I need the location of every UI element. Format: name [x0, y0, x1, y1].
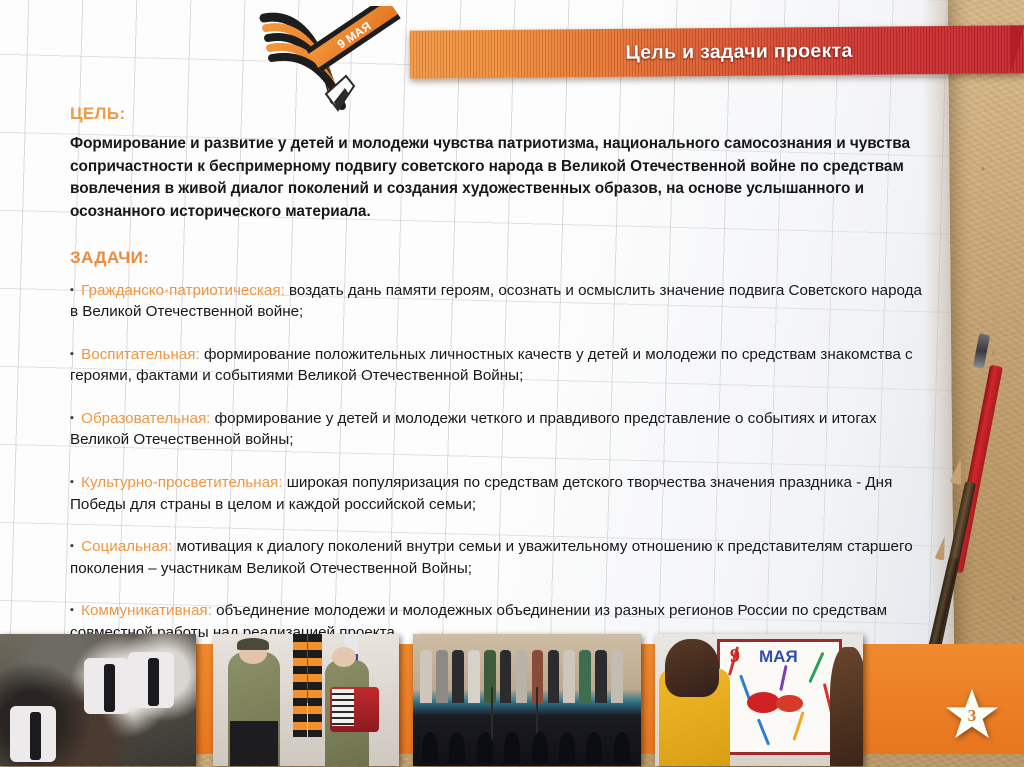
- slide-number: 3: [944, 706, 1000, 726]
- task-item: ▪ Социальная: мотивация к диалогу поколе…: [70, 536, 930, 579]
- st-george-ribbon-pencil-icon: 9 МАЯ: [250, 6, 430, 118]
- task-label: Социальная:: [81, 538, 172, 555]
- paintbrush-ferrule-icon: [973, 333, 990, 368]
- bullet-icon: ▪: [70, 412, 74, 424]
- strip-photo: 9 МАЯ: [655, 634, 863, 766]
- strip-photo: [213, 634, 399, 766]
- poster-flower: [747, 692, 780, 713]
- slide-number-star-icon: 3: [944, 687, 1000, 743]
- tasks-heading: ЗАДАЧИ:: [70, 248, 930, 268]
- poster-nine-text: 9: [730, 645, 740, 668]
- banner-right-notch: [1011, 25, 1024, 73]
- pencil-tip-icon: [949, 457, 966, 485]
- slide-canvas: Цель и задачи проекта 9 МАЯ: [0, 0, 1024, 767]
- task-item: ▪ Культурно-просветительная: широкая поп…: [70, 472, 930, 515]
- bullet-icon: ▪: [70, 540, 74, 552]
- accordion-player-head: [332, 647, 356, 667]
- slide-body: ЦЕЛЬ: Формирование и развитие у детей и …: [70, 104, 930, 665]
- bullet-icon: ▪: [70, 284, 74, 296]
- bullet-icon: ▪: [70, 604, 74, 616]
- photo-image-choir: [413, 634, 641, 766]
- strip-photo: [0, 634, 196, 766]
- page-title: Цель и задачи проекта: [625, 39, 852, 64]
- task-item: ▪ Образовательная: формирование у детей …: [70, 408, 930, 451]
- second-child-hair: [830, 647, 863, 766]
- task-label: Коммуникативная:: [81, 602, 212, 619]
- task-label: Воспитательная:: [81, 346, 200, 363]
- photo-image-veterans: [0, 634, 196, 766]
- strip-photo: [413, 634, 641, 766]
- task-text: мотивация к диалогу поколений внутри сем…: [70, 538, 913, 577]
- goal-heading: ЦЕЛЬ:: [70, 104, 930, 124]
- task-label: Культурно-просветительная:: [81, 474, 282, 491]
- title-banner: Цель и задачи проекта: [410, 25, 1024, 78]
- singer-skirt: [230, 721, 278, 766]
- st-george-ribbon-banner: [308, 634, 322, 737]
- poster-maya-text: МАЯ: [759, 647, 798, 667]
- goal-paragraph: Формирование и развитие у детей и молоде…: [70, 133, 930, 224]
- task-label: Образовательная:: [81, 410, 210, 427]
- st-george-ribbon-banner: [293, 634, 307, 737]
- pencil-second-tip-icon: [934, 535, 949, 561]
- task-item: ▪ Воспитательная: формирование положител…: [70, 344, 930, 387]
- singer-cap: [237, 638, 269, 650]
- bullet-icon: ▪: [70, 476, 74, 488]
- task-item: ▪ Гражданско-патриотическая: воздать дан…: [70, 280, 930, 323]
- painter-hair: [665, 639, 719, 697]
- photo-image-poster-painting: 9 МАЯ: [655, 634, 863, 766]
- photo-strip: 9 МАЯ: [0, 630, 1024, 767]
- task-label: Гражданско-патриотическая:: [81, 282, 285, 299]
- accordion-keys: [332, 689, 354, 726]
- bullet-icon: ▪: [70, 348, 74, 360]
- poster-flower: [776, 695, 803, 712]
- photo-image-singer-accordion: [213, 634, 399, 766]
